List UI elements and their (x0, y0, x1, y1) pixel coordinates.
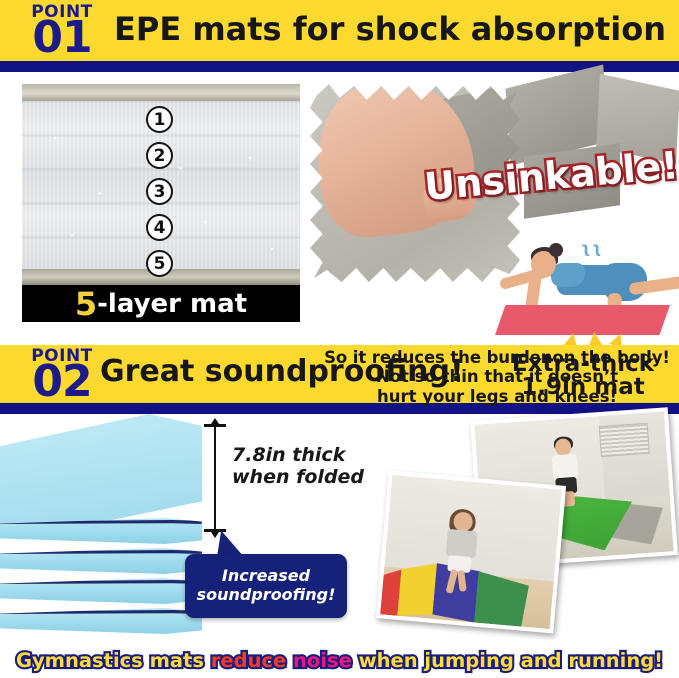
thickness-line-1: 7.8in thick (232, 444, 364, 466)
yoga-illustration: ʅʅ (495, 237, 670, 347)
footer-part-1: Gymnastics mats (16, 649, 211, 672)
layer-number-badge: 5 (146, 250, 173, 277)
wall-vent-icon (598, 423, 649, 457)
caption-line-1: So it reduces the burdenon the body! (318, 348, 676, 367)
child-leg (458, 570, 468, 592)
caption-line-3: hurt your legs and knees! (318, 387, 676, 406)
foam-top-edge (22, 84, 300, 101)
child-figure-running (440, 511, 481, 595)
foam-cross-section-photo: 1 2 3 4 5 5 -layer mat (22, 84, 300, 322)
point-01-title: EPE mats for shock absorption (114, 10, 666, 48)
photo-girl-rainbow-mat (376, 471, 566, 634)
speech-bubble-line-2: soundproofing! (197, 586, 336, 605)
five-layer-number: 5 (75, 288, 97, 320)
mat-stitch (0, 550, 202, 554)
footer-part-3: noise (293, 649, 352, 672)
section-01-body: 1 2 3 4 5 5 -layer mat Unsinkable! ʅʅ (0, 72, 679, 340)
footer-tagline: Gymnastics mats reduce noise when jumpin… (0, 649, 679, 672)
red-yoga-mat (495, 305, 670, 335)
child-shirt (552, 453, 578, 479)
mat-slab (0, 578, 202, 604)
soundproofing-speech-bubble: Increased soundproofing! (185, 554, 347, 618)
child-shirt (445, 529, 477, 559)
yoga-top (551, 263, 585, 287)
layer-number-badge: 4 (146, 214, 173, 241)
thickness-label: 7.8in thick when folded (232, 444, 364, 489)
layer-number-list: 1 2 3 4 5 (146, 106, 173, 277)
layer-number-badge: 2 (146, 142, 173, 169)
five-layer-caption-bar: 5 -layer mat (22, 285, 300, 322)
thickness-line-2: when folded (232, 466, 364, 488)
folded-mat-stack (0, 414, 211, 646)
mat-slab (0, 548, 202, 574)
footer-part-4: when jumping and running! (352, 649, 663, 672)
five-layer-text: -layer mat (97, 291, 247, 317)
mat-panel-yellow (397, 560, 438, 619)
infographic-page: EPE mats for shock absorption POINT 01 1… (0, 0, 679, 678)
mat-stitch (0, 580, 202, 584)
point-01-banner: EPE mats for shock absorption (0, 0, 679, 61)
section-02-body: 7.8in thick when folded Increased soundp… (0, 408, 679, 678)
photo-content (380, 475, 562, 629)
speech-bubble-line-1: Increased (197, 567, 336, 586)
caption-line-2: Not so thin that it doesn’t (318, 367, 676, 386)
mat-slab (0, 608, 202, 634)
mat-slab-top (0, 414, 202, 532)
dimension-arrow (214, 426, 216, 530)
mat-panel-green (474, 567, 530, 627)
mat-stitch (0, 610, 202, 614)
speech-bubble-text: Increased soundproofing! (197, 567, 336, 604)
footer-part-2: reduce (211, 649, 293, 672)
section-01-caption: So it reduces the burdenon the body! Not… (318, 348, 676, 406)
layer-number-badge: 1 (146, 106, 173, 133)
layer-number-badge: 3 (146, 178, 173, 205)
motion-marks-icon: ʅʅ (581, 239, 603, 257)
yoga-hair-bun (549, 243, 563, 257)
